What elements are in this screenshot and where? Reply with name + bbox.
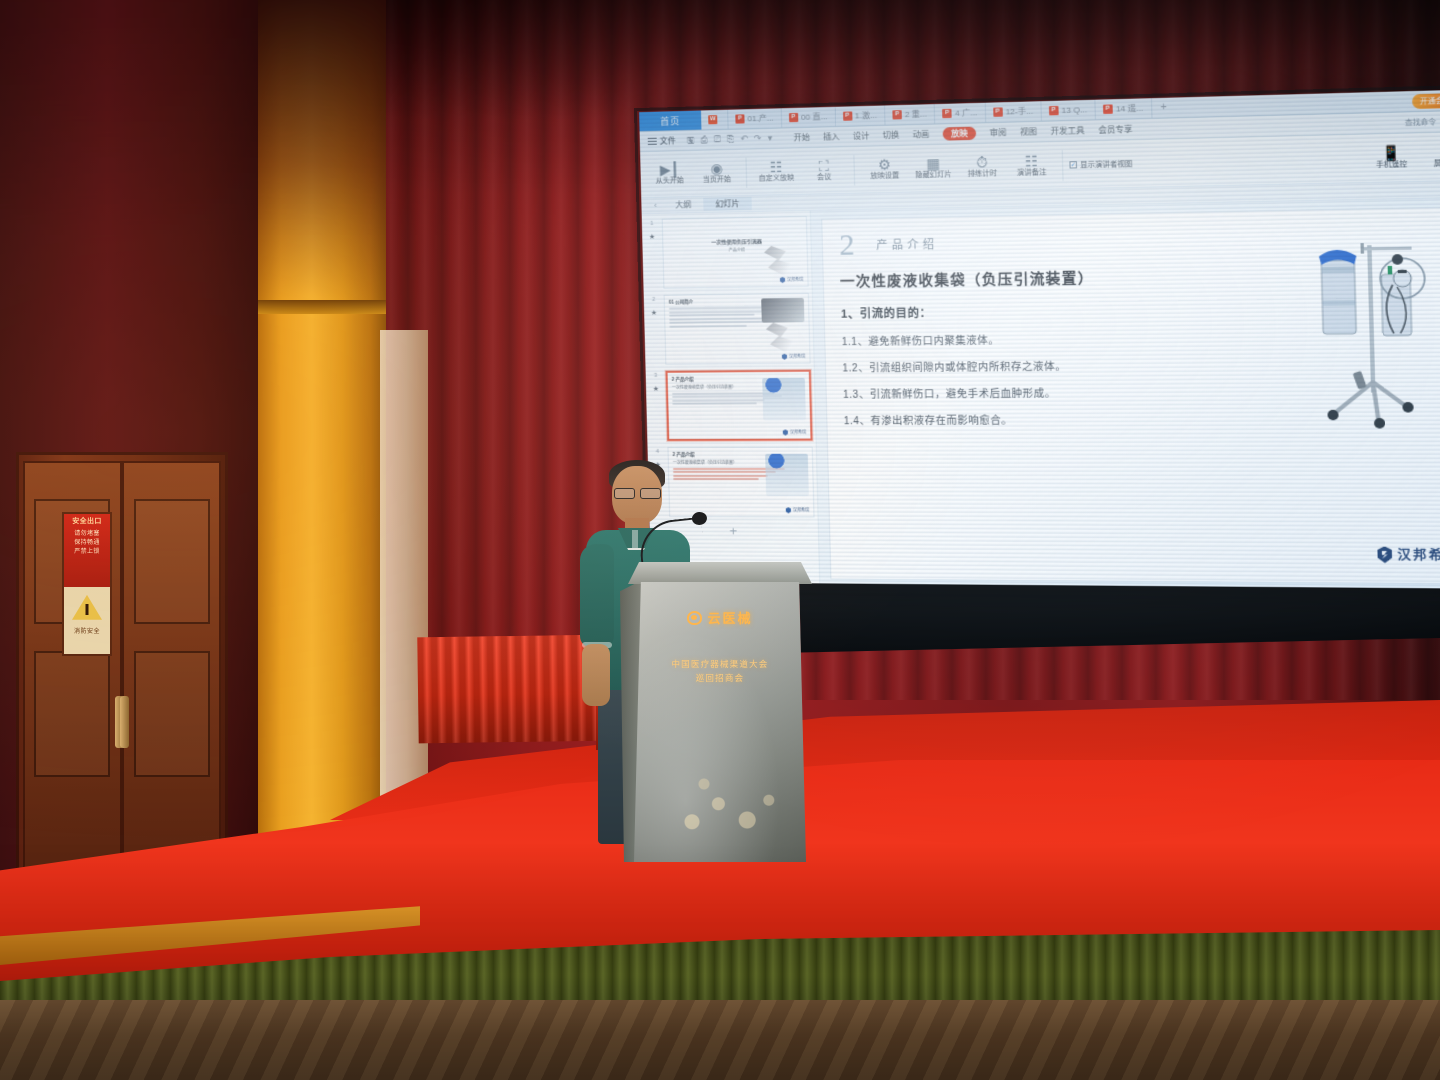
show-settings-icon: ⚙ (878, 156, 891, 173)
ppt-icon: P (789, 113, 798, 122)
podium-event-title: 中国医疗器械渠道大会 巡回招商会 (620, 657, 820, 685)
vip-upgrade-button[interactable]: 开通会员 (1412, 92, 1440, 108)
ppt-icon: P (993, 107, 1003, 116)
document-tab-label: 00 直... (801, 111, 828, 123)
thumbnail-logo-text: 汉邦希瑞 (793, 507, 809, 513)
ribbon-button-label: 会议 (817, 174, 832, 183)
ribbon-button-label: 屏幕共享 (1434, 160, 1440, 170)
tab-slides[interactable]: 幻灯片 (703, 197, 752, 211)
custom-show-icon: ☷ (770, 159, 783, 175)
play-current-icon: ◉ (710, 160, 723, 176)
redo-icon[interactable]: ↷ (754, 133, 762, 144)
hall-floor-pattern (0, 1000, 1440, 1080)
thumbnail-star-icon: ★ (649, 385, 663, 393)
tab-design[interactable]: 设计 (853, 130, 870, 142)
thumbnail-star-icon: ★ (645, 233, 659, 241)
tab-slideshow[interactable]: 放映 (942, 127, 976, 141)
slide-editor-pane[interactable]: 2 产品介绍 一次性废液收集袋（负压引流装置） 1、引流的目的： 1.1、避免新… (811, 197, 1440, 588)
cloud-device-logo-icon (687, 611, 702, 625)
tab-member[interactable]: 会员专享 (1098, 124, 1132, 136)
slide-brand-logo: 汉邦希瑞 (1377, 546, 1440, 564)
undo-icon[interactable]: ↶ (740, 133, 748, 144)
door-panel (134, 499, 210, 624)
play-current-button[interactable]: ◉ 当页开始 (693, 159, 740, 187)
menu-right-group: 查找命令 搜索模板 (1405, 115, 1440, 127)
thumbnail-subtitle: 产品介绍 (667, 246, 806, 254)
document-tab[interactable]: W (701, 110, 729, 130)
rehearse-timing-icon: ⏱ (976, 154, 988, 171)
file-menu-label: 文件 (660, 135, 676, 146)
show-settings-button[interactable]: ⚙ 放映设置 (861, 155, 909, 183)
podium-decoration (668, 748, 788, 838)
sign-red-block: 安全出口 请勿堵塞 保持畅通 严禁上锁 (64, 514, 110, 587)
gold-wall-shadow (258, 0, 386, 300)
phone-remote-button[interactable]: 📱 手机遥控 (1366, 143, 1418, 172)
thumbnail-star-icon: ★ (647, 309, 661, 317)
new-tab-button[interactable]: + (1152, 98, 1176, 118)
ribbon-button-label: 放映设置 (870, 172, 899, 182)
customize-icon[interactable]: ▾ (767, 133, 772, 144)
gold-wall-band (258, 300, 386, 314)
ribbon-button-label: 当页开始 (703, 176, 731, 185)
door-panel (34, 651, 110, 776)
meeting-button[interactable]: ⛶ 会议 (800, 156, 848, 184)
document-tab[interactable]: P 12-手... (985, 101, 1041, 122)
thumbnail-text-line (669, 317, 763, 320)
tab-outline[interactable]: 大纲 (663, 198, 703, 212)
save-icon[interactable]: 🖫 (687, 132, 695, 148)
ribbon-button-label: 演讲备注 (1017, 169, 1047, 179)
projection-screen: 首页 W P 01.产... P 00 直... P 1.激... P 2 重.… (639, 89, 1440, 589)
thumbnail-preview: 2 产品介绍 一次性废液收集袋（负压引流装置） 汉邦希瑞 (666, 370, 813, 441)
document-tab[interactable]: P 13 Q... (1041, 100, 1096, 121)
work-area: 1 ★ 一次性使用负压引流器 产品介绍 汉邦希瑞 (642, 197, 1440, 588)
screen-share-button[interactable]: 🖥 屏幕共享 (1423, 142, 1440, 172)
thumbnail-preview: 01 公司简介 汉邦希瑞 (664, 293, 811, 365)
sign-lines: 请勿堵塞 保持畅通 严禁上锁 (74, 531, 100, 556)
document-tab[interactable]: P 2 重... (885, 104, 936, 125)
slide-kicker: 产品介绍 (876, 236, 938, 253)
thumbnail-logo: 汉邦希瑞 (786, 507, 810, 513)
thumbnail-number: 1 (645, 221, 659, 227)
thumbnail-image (762, 378, 806, 421)
conference-stage-scene: 安全出口 请勿堵塞 保持畅通 严禁上锁 消防安全 首页 W P 01.产... … (0, 0, 1440, 1080)
ribbon-separator (1062, 150, 1064, 181)
custom-show-button[interactable]: ☷ 自定义放映 (753, 157, 800, 185)
sign-header: 安全出口 (64, 517, 110, 528)
slide-thumbnail[interactable]: 2 ★ 01 公司简介 (647, 293, 811, 365)
door-handle[interactable] (120, 696, 129, 748)
thumbnail-title: 一次性使用负压引流器 (667, 237, 806, 246)
shield-icon (1377, 546, 1392, 563)
tab-view[interactable]: 视图 (1020, 126, 1037, 138)
glasses-icon (614, 488, 661, 497)
thumbnail-text-line (669, 325, 746, 328)
ribbon-button-label: 隐藏幻灯片 (915, 171, 952, 181)
ribbon-separator (853, 155, 855, 185)
ribbon-separator (745, 157, 747, 187)
podium-brand-text: 云医械 (707, 608, 752, 627)
door-panel (134, 651, 210, 776)
speaking-podium: 云医械 中国医疗器械渠道大会 巡回招商会 (620, 562, 820, 862)
document-tab[interactable]: P 4 广... (935, 103, 986, 124)
thumbnail-meta: 3 ★ (649, 371, 664, 393)
ppt-icon: P (892, 110, 902, 119)
thumbnail-number: 3 (649, 373, 663, 379)
hamburger-icon (648, 136, 657, 147)
checkbox-icon: ✓ (1069, 161, 1077, 168)
thumbnail-number: 2 (647, 297, 661, 303)
tab-developer[interactable]: 开发工具 (1050, 125, 1084, 137)
thumbnail-logo: 汉邦希瑞 (780, 277, 804, 283)
document-tab-label: 12-手... (1005, 106, 1033, 118)
thumbnail-text-line (672, 399, 765, 402)
shield-icon (786, 507, 791, 513)
shield-icon (783, 430, 788, 436)
warning-triangle-icon (72, 594, 102, 620)
shield-icon (780, 277, 785, 283)
thumbnail-text-line (669, 314, 755, 317)
thumbnail-logo: 汉邦希瑞 (782, 354, 806, 360)
tab-start[interactable]: 开始 (793, 132, 810, 144)
ppt-icon: P (1049, 106, 1059, 116)
presenter-notes-icon: ☷ (1025, 153, 1039, 170)
ribbon-button-label: 排练计时 (968, 170, 998, 180)
tabstrip-right-group: 开通会员 (1412, 89, 1440, 111)
ppt-icon: P (1103, 104, 1113, 114)
thumbnail-logo-text: 汉邦希瑞 (790, 429, 806, 435)
thumbnail-logo-text: 汉邦希瑞 (789, 354, 805, 360)
print-icon[interactable]: ⎙ (700, 134, 708, 145)
ppt-icon: P (735, 114, 744, 123)
phone-remote-icon: 📱 (1381, 144, 1401, 161)
presenter-view-checkbox[interactable]: ✓ 显示演讲者视图 (1069, 158, 1132, 170)
thumbnail-logo-text: 汉邦希瑞 (787, 277, 803, 283)
tab-review[interactable]: 审阅 (989, 127, 1006, 139)
thumbnail-text-line (672, 392, 773, 395)
current-slide[interactable]: 2 产品介绍 一次性废液收集袋（负压引流装置） 1、引流的目的： 1.1、避免新… (821, 206, 1440, 584)
tab-transition[interactable]: 切换 (882, 130, 899, 142)
thumbnail-text-line (669, 306, 772, 309)
tab-animation[interactable]: 动画 (912, 129, 929, 141)
ribbon-button-label: 从头开始 (656, 177, 684, 186)
shield-icon (782, 354, 787, 360)
thumbnail-logo: 汉邦希瑞 (783, 429, 807, 435)
thumbnail-text-line (672, 403, 756, 405)
ppt-icon: P (942, 109, 952, 118)
document-tab[interactable]: P 00 直... (782, 107, 836, 128)
ppt-icon: P (843, 111, 852, 120)
document-tab-label: 01.产... (747, 113, 773, 125)
document-tab-label: 4 广... (955, 107, 978, 119)
quick-access-toolbar: 🖫 ⎙ ⎚ ⎘ ↶ ↷ ▾ (687, 130, 773, 148)
presenter-view-label: 显示演讲者视图 (1080, 158, 1132, 170)
wps-doc-icon: W (708, 115, 717, 124)
document-tab[interactable]: P 1.激... (835, 105, 885, 126)
podium-top-surface (628, 562, 812, 584)
podium-event-line2: 巡回招商会 (620, 671, 820, 685)
sign-caption: 消防安全 (74, 626, 100, 635)
meeting-icon: ⛶ (819, 158, 829, 174)
product-image-drainage-stand (1294, 222, 1440, 445)
tab-home[interactable]: 首页 (639, 110, 701, 131)
ink-splash-decoration (766, 322, 803, 353)
file-menu-button[interactable]: 文件 (648, 135, 676, 147)
document-tab-label: 14 遥... (1116, 103, 1144, 115)
podium-brand-logo: 云医械 (620, 608, 820, 627)
hide-slide-icon: ▦ (926, 155, 940, 172)
rehearse-timing-button[interactable]: ⏱ 排练计时 (958, 153, 1007, 181)
thumbnail-image (761, 298, 804, 323)
podium-event-line1: 中国医疗器械渠道大会 (620, 657, 820, 671)
document-tab[interactable]: P 01.产... (728, 108, 782, 129)
slide-thumbnail[interactable]: 1 ★ 一次性使用负压引流器 产品介绍 汉邦希瑞 (645, 216, 809, 289)
play-from-start-icon: ▶┃ (660, 161, 680, 177)
presenter-left-sleeve (580, 544, 614, 648)
tab-insert[interactable]: 插入 (823, 131, 840, 143)
ribbon-right-group: 📱 手机遥控 🖥 屏幕共享 (1366, 141, 1440, 172)
hide-slide-button[interactable]: ▦ 隐藏幻灯片 (909, 154, 957, 182)
collapse-pane-icon[interactable]: ‹ (647, 201, 663, 210)
thumbnail-meta: 1 ★ (645, 219, 659, 241)
thumbnail-meta: 2 ★ (647, 295, 661, 317)
document-tab[interactable]: P 14 遥... (1095, 98, 1152, 119)
presenter-notes-button[interactable]: ☷ 演讲备注 (1007, 151, 1056, 180)
document-tab-label: 2 重... (905, 108, 927, 120)
ribbon-button-label: 手机遥控 (1376, 161, 1407, 171)
print-preview-icon[interactable]: ⎚ (714, 134, 722, 145)
document-tab-label: 1.激... (855, 110, 877, 122)
safety-exit-sign: 安全出口 请勿堵塞 保持畅通 严禁上锁 消防安全 (62, 512, 112, 656)
new-icon[interactable]: ⎘ (727, 134, 735, 145)
slide-thumbnail-selected[interactable]: 3 ★ 2 产品介绍 一次性废液收集袋（负压引流装置） 汉邦希瑞 (649, 370, 813, 441)
play-from-start-button[interactable]: ▶┃ 从头开始 (646, 160, 693, 188)
ribbon-button-label: 自定义放映 (759, 175, 795, 185)
slide-logo-text: 汉邦希瑞 (1397, 546, 1440, 564)
presenter-left-arm (582, 644, 610, 706)
document-tab-label: 13 Q... (1061, 105, 1087, 115)
thumbnail-preview: 一次性使用负压引流器 产品介绍 汉邦希瑞 (662, 216, 809, 289)
find-command-button[interactable]: 查找命令 (1405, 116, 1436, 127)
thumbnail-image (765, 454, 809, 497)
